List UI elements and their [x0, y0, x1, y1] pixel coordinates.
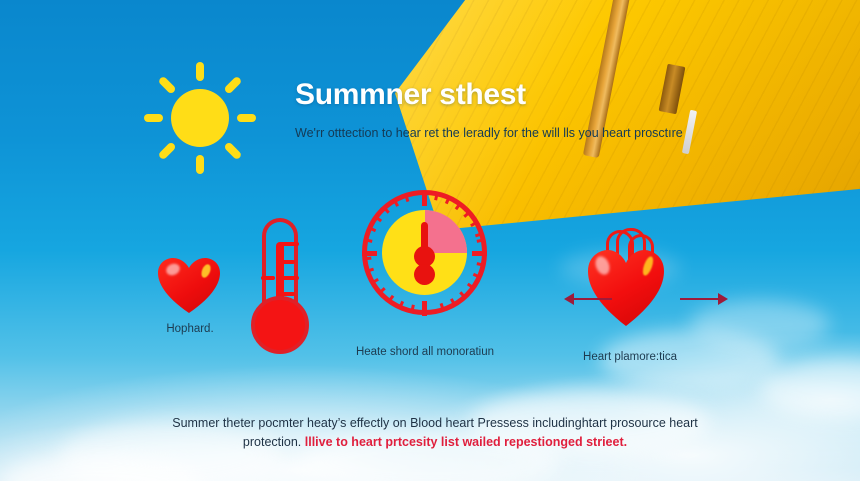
sun-ray: [237, 114, 256, 122]
anatomical-heart-icon: [580, 228, 672, 328]
page-title: Summner sthest: [295, 78, 735, 111]
arrow-shaft: [680, 298, 720, 300]
caption-heart: Hophard.: [140, 322, 240, 337]
clock-elapsed-slice: [425, 210, 468, 253]
clock-tick: [362, 251, 377, 256]
clock-tick: [422, 301, 427, 316]
footer-line-2-highlight: lllive to heart prtcesity list wailed re…: [305, 435, 627, 449]
footer-line-1: Summer theter pocmter heaty’s effectly o…: [172, 416, 666, 430]
sun-ray: [223, 76, 242, 95]
clock-hub-lower: [414, 264, 435, 285]
poster-canvas: Summner sthest We'rr otttection to hear …: [0, 0, 860, 481]
sun-ray: [196, 62, 204, 81]
footer-text: Summer theter pocmter heaty’s effectly o…: [150, 414, 720, 453]
sun-core: [171, 89, 229, 147]
sun-ray: [144, 114, 163, 122]
thermometer-tick: [279, 276, 299, 280]
thermometer-bulb: [251, 296, 309, 354]
thermometer-icon: [245, 218, 315, 358]
clock-tick: [422, 191, 427, 206]
sun-icon: [144, 62, 256, 174]
clock-icon: [362, 190, 487, 315]
caption-anatomical-heart: Heart plamore:tica: [565, 350, 695, 365]
arrow-shaft: [572, 298, 612, 300]
arrow-head: [718, 293, 728, 305]
sun-ray: [158, 141, 177, 160]
heart-icon: [158, 258, 220, 314]
sun-ray: [158, 76, 177, 95]
sun-ray: [223, 141, 242, 160]
arrow-right-icon: [680, 293, 728, 305]
icon-row: Hophard.: [140, 190, 740, 390]
sun-ray: [196, 155, 204, 174]
thermometer-tick: [279, 260, 295, 264]
thermometer-tick: [279, 242, 299, 246]
clock-tick: [472, 251, 487, 256]
page-subtitle: We'rr otttection to hear ret the leradly…: [295, 125, 735, 142]
caption-clock: Heate shord all monoratiun: [345, 345, 505, 360]
header-block: Summner sthest We'rr otttection to hear …: [295, 78, 735, 142]
thermometer-tick: [261, 276, 275, 280]
arrow-left-icon: [564, 293, 612, 305]
